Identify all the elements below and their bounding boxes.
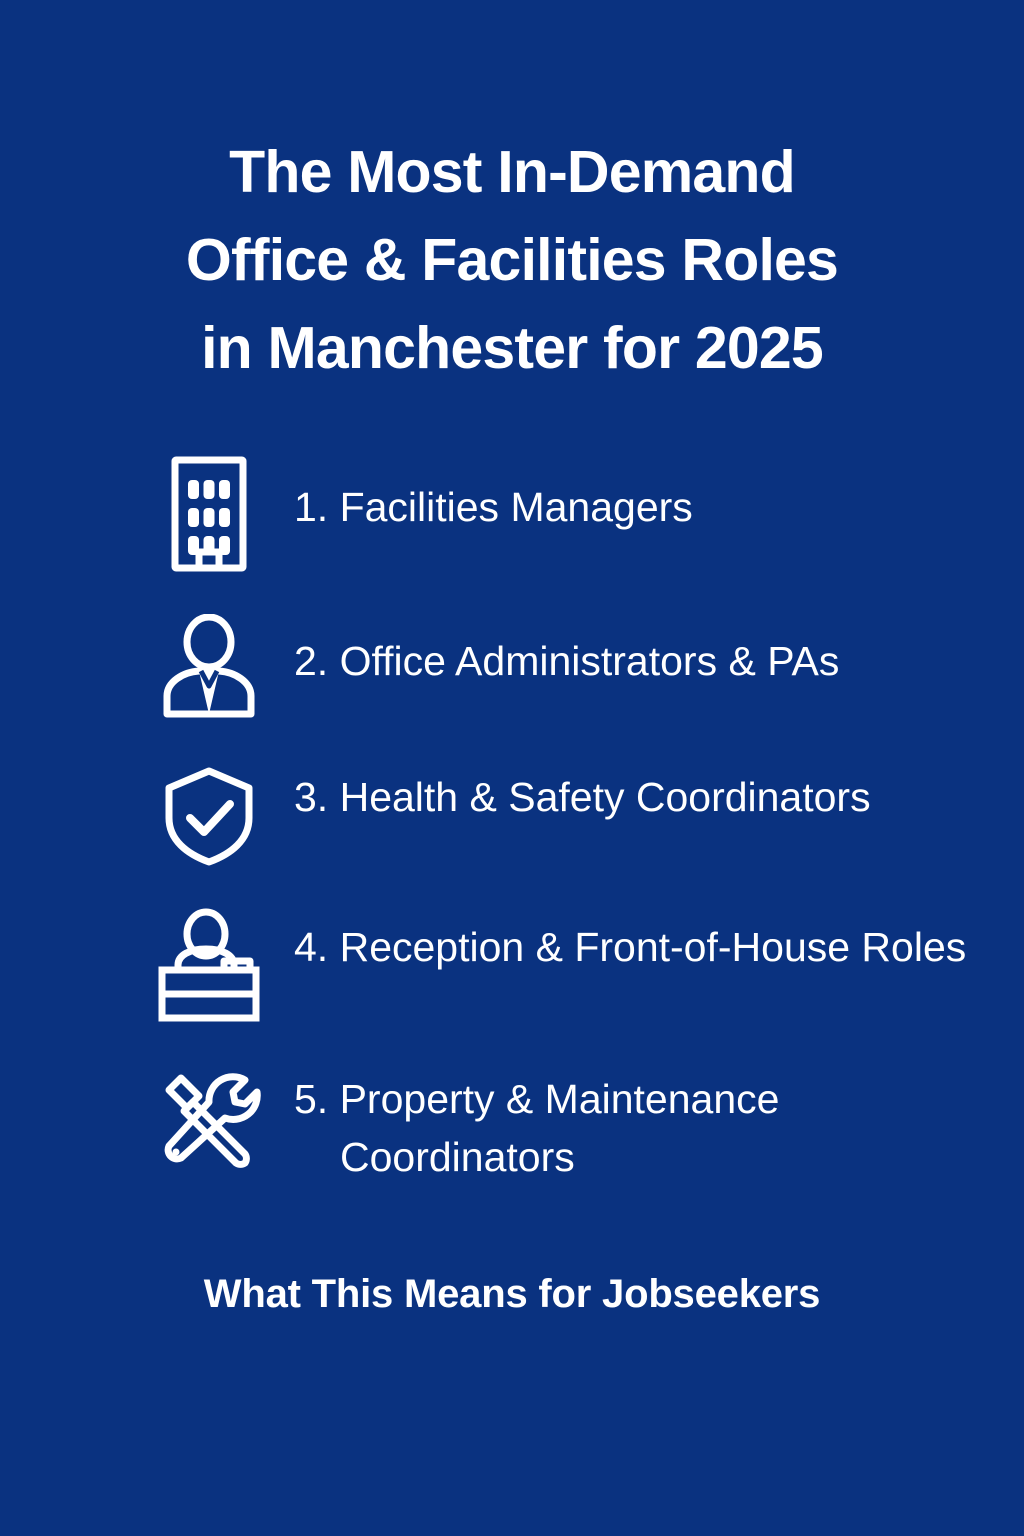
title-line-2: Office & Facilities Roles bbox=[0, 216, 1024, 304]
footer-section: What This Means for Jobseekers bbox=[0, 1268, 1024, 1320]
roles-list: 1. Facilities Managers 2. Office Adminis… bbox=[150, 452, 990, 1196]
list-item-label: 2. Office Administrators & PAs bbox=[268, 604, 990, 690]
infographic-poster: The Most In-Demand Office & Facilities R… bbox=[0, 0, 1024, 1536]
list-item-label: 5. Property & Maintenance Coordinators bbox=[268, 1056, 990, 1186]
list-item-label-text: 3. Health & Safety Coordinators bbox=[294, 768, 990, 826]
list-item: 3. Health & Safety Coordinators bbox=[150, 754, 990, 894]
reception-desk-icon bbox=[150, 904, 268, 1028]
list-item: 1. Facilities Managers bbox=[150, 452, 990, 580]
title-line-3: in Manchester for 2025 bbox=[0, 304, 1024, 392]
list-item-label-text: 5. Property & Maintenance Coordinators bbox=[294, 1070, 990, 1186]
list-item: 5. Property & Maintenance Coordinators bbox=[150, 1056, 990, 1196]
shield-check-icon bbox=[150, 754, 268, 878]
footer-heading: What This Means for Jobseekers bbox=[204, 1272, 820, 1316]
list-item: 2. Office Administrators & PAs bbox=[150, 604, 990, 732]
list-item-label: 3. Health & Safety Coordinators bbox=[268, 754, 990, 826]
list-item-label-text: 4. Reception & Front-of-House Roles bbox=[294, 918, 990, 976]
list-item-label: 1. Facilities Managers bbox=[268, 452, 990, 536]
list-item: 4. Reception & Front-of-House Roles bbox=[150, 904, 990, 1046]
tools-icon bbox=[150, 1056, 268, 1180]
title-line-1: The Most In-Demand bbox=[0, 128, 1024, 216]
office-building-icon bbox=[150, 452, 268, 576]
business-person-icon bbox=[150, 604, 268, 728]
list-item-label: 4. Reception & Front-of-House Roles bbox=[268, 904, 990, 976]
page-title: The Most In-Demand Office & Facilities R… bbox=[0, 128, 1024, 392]
